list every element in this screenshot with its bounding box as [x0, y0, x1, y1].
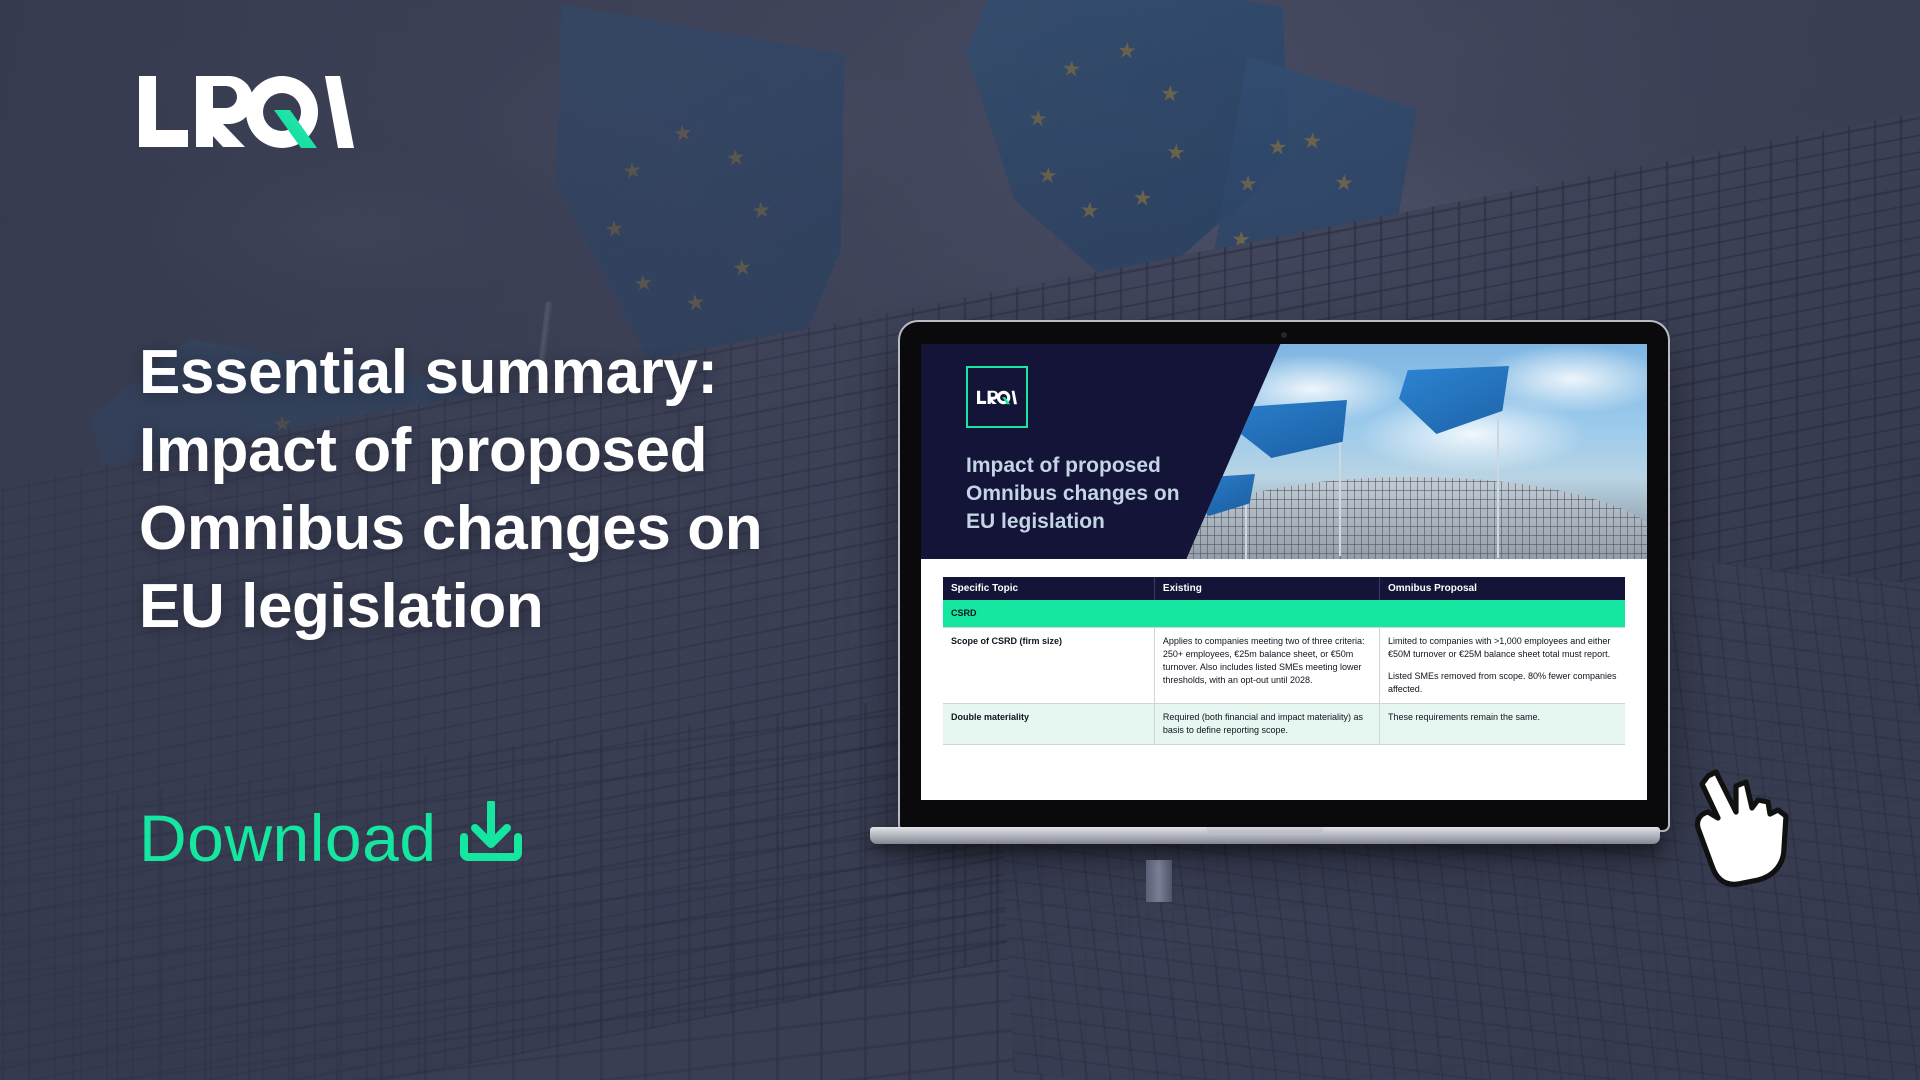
cell-proposal: Limited to companies with >1,000 employe…: [1379, 628, 1625, 704]
download-label: Download: [139, 805, 437, 871]
table-header-row: Specific Topic Existing Omnibus Proposal: [943, 577, 1625, 600]
cell-topic: Double materiality: [943, 704, 1154, 745]
cell-paragraph: These requirements remain the same.: [1388, 711, 1617, 724]
table-section-row: CSRD: [943, 600, 1625, 628]
table-row: Scope of CSRD (firm size) Applies to com…: [943, 628, 1625, 704]
laptop-notch: [1206, 827, 1324, 833]
webcam-icon: [1281, 332, 1287, 338]
eu-flag: [1239, 400, 1347, 458]
slide-hero-photo: [1177, 344, 1647, 559]
pointing-hand-cursor: [1690, 760, 1800, 895]
column-header-specific-topic: Specific Topic: [943, 577, 1154, 600]
lrqa-logo: [139, 76, 354, 148]
slide-hero: Impact of proposed Omnibus changes on EU…: [921, 344, 1647, 559]
headline-line: EU legislation: [139, 568, 779, 646]
slide-title-line: Omnibus changes on: [966, 480, 1180, 508]
headline-line: Impact of proposed: [139, 412, 779, 490]
cell-paragraph: Limited to companies with >1,000 employe…: [1388, 635, 1617, 661]
flag-pole: [1497, 418, 1499, 558]
slide-title-line: Impact of proposed: [966, 452, 1180, 480]
column-header-omnibus-proposal: Omnibus Proposal: [1379, 577, 1625, 600]
cell-paragraph: Applies to companies meeting two of thre…: [1163, 635, 1371, 687]
column-header-existing: Existing: [1154, 577, 1379, 600]
headline-line: Omnibus changes on: [139, 490, 779, 568]
hero-content: Essential summary: Impact of proposed Om…: [0, 0, 780, 1080]
laptop-lid: Impact of proposed Omnibus changes on EU…: [900, 322, 1668, 830]
download-icon: [459, 800, 523, 876]
cell-paragraph: Required (both financial and impact mate…: [1163, 711, 1371, 737]
laptop-screen[interactable]: Impact of proposed Omnibus changes on EU…: [921, 344, 1647, 800]
cell-topic: Scope of CSRD (firm size): [943, 628, 1154, 704]
slide-lrqa-logo: [966, 366, 1028, 428]
cell-paragraph: Listed SMEs removed from scope. 80% fewe…: [1388, 670, 1617, 696]
section-label-csrd: CSRD: [943, 600, 1625, 628]
cell-proposal: These requirements remain the same.: [1379, 704, 1625, 745]
headline-line: Essential summary:: [139, 334, 779, 412]
laptop-mockup: Impact of proposed Omnibus changes on EU…: [870, 322, 1660, 862]
download-button[interactable]: Download: [139, 800, 523, 876]
laptop-base: [870, 827, 1660, 844]
slide-title: Impact of proposed Omnibus changes on EU…: [966, 452, 1180, 536]
laptop-stand: [1146, 860, 1172, 902]
cell-existing: Required (both financial and impact mate…: [1154, 704, 1379, 745]
table-row: Double materiality Required (both financ…: [943, 704, 1625, 745]
cell-existing: Applies to companies meeting two of thre…: [1154, 628, 1379, 704]
slide-title-line: EU legislation: [966, 508, 1180, 536]
slide-body: Specific Topic Existing Omnibus Proposal…: [921, 559, 1647, 745]
flag-pole: [1339, 436, 1341, 556]
comparison-table: Specific Topic Existing Omnibus Proposal…: [943, 577, 1625, 745]
page-title: Essential summary: Impact of proposed Om…: [139, 334, 779, 646]
